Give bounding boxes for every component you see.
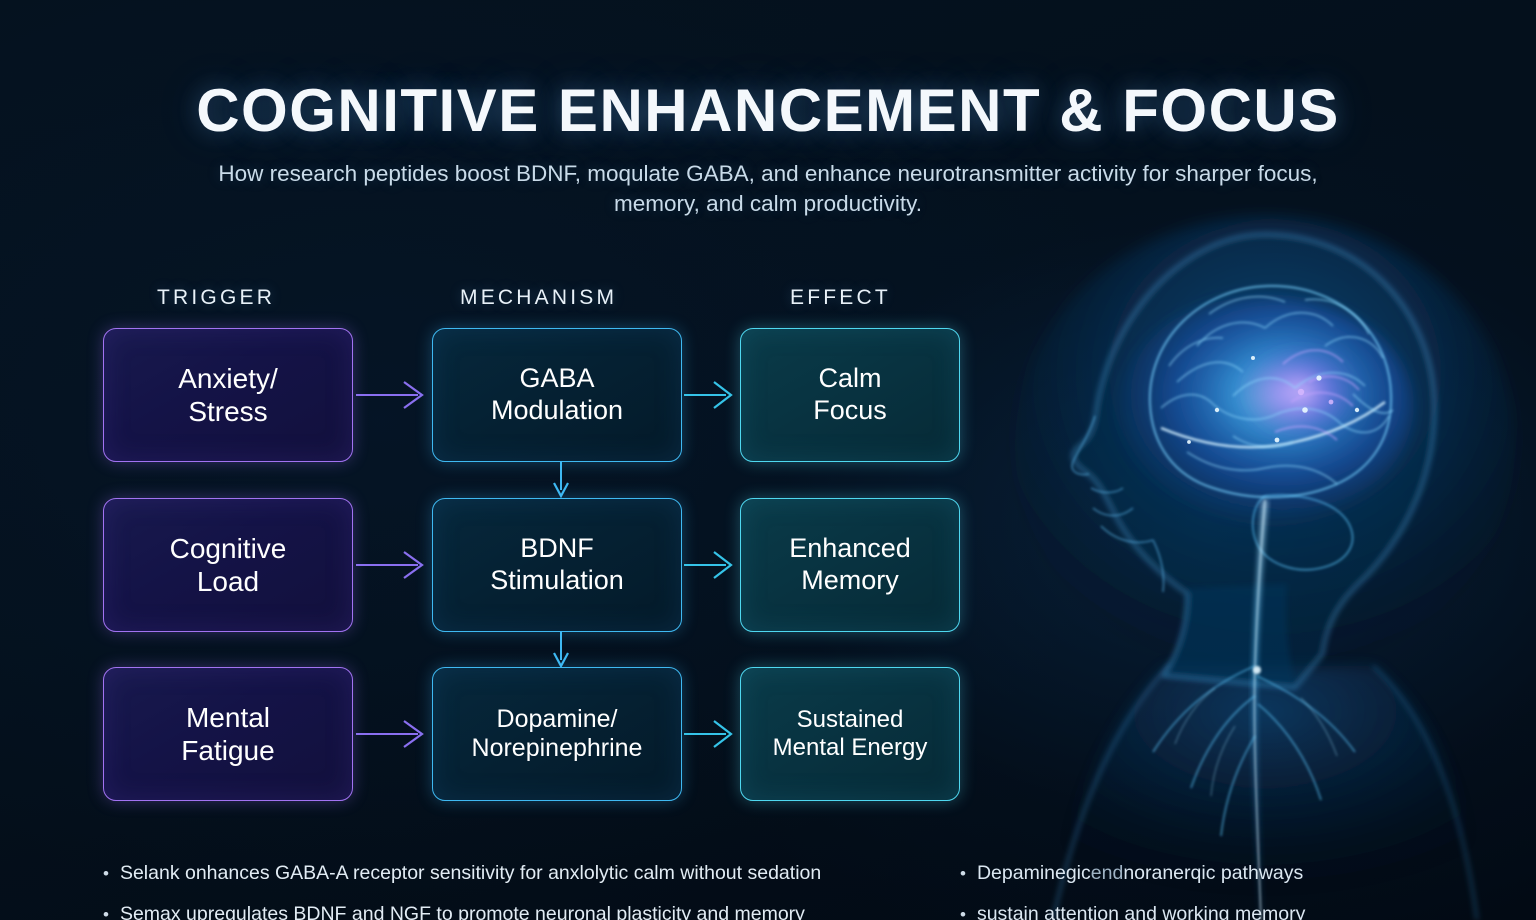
column-heading-trigger: TRIGGER [157,286,275,310]
arrow-trigger-to-mechanism-1 [356,380,432,410]
bullet-icon: • [960,906,966,920]
node-line-1: Dopamine/ [497,705,618,735]
trigger-node-anxiety-stress[interactable]: Anxiety/ Stress [103,328,353,462]
node-line-1: Sustained [797,706,904,734]
arrow-mechanism-gaba-to-bdnf [551,462,571,500]
page-subtitle: How research peptides boost BDNF, moqula… [173,159,1363,220]
node-line-2: Stress [188,395,267,428]
arrow-mechanism-to-effect-2 [684,550,740,580]
node-line-2: Fatigue [181,734,274,767]
node-line-2: Norepinephrine [472,734,643,764]
node-line-2: Focus [813,395,887,427]
node-line-1: Mental [186,701,270,734]
effect-node-calm-focus[interactable]: Calm Focus [740,328,960,462]
column-heading-effect: EFFECT [790,286,891,310]
notes-left-column: • Selank onhances GABA-A receptor sensit… [103,864,933,920]
note-item: • sustain attention and working memory [960,905,1520,920]
node-line-1: Cognitive [170,532,287,565]
note-text-before: Depaminegic [977,864,1091,884]
flow-rows: Anxiety/ Stress GABA Modulation [103,328,965,801]
node-line-2: Stimulation [490,565,624,597]
mechanism-node-bdnf-stimulation[interactable]: BDNF Stimulation [432,498,682,632]
page-title: COGNITIVE ENHANCEMENT & FOCUS [0,76,1536,145]
bullet-icon: • [960,865,966,882]
bullet-icon: • [103,865,109,882]
note-item: • Semax upregulates BDNF and NGF to prom… [103,905,933,920]
note-text-fragment: end [1091,864,1124,884]
trigger-node-mental-fatigue[interactable]: Mental Fatigue [103,667,353,801]
arrow-trigger-to-mechanism-2 [356,550,432,580]
header: COGNITIVE ENHANCEMENT & FOCUS How resear… [0,0,1536,220]
arrow-mechanism-to-effect-1 [684,380,740,410]
note-text-after: noranerqic pathways [1123,864,1303,884]
column-heading-mechanism: MECHANISM [460,286,617,310]
node-line-1: GABA [519,363,594,395]
node-line-2: Load [197,565,259,598]
bullet-icon: • [103,906,109,920]
note-text: Semax upregulates BDNF and NGF to promot… [120,905,805,920]
arrow-trigger-to-mechanism-3 [356,719,432,749]
note-item: • Selank onhances GABA-A receptor sensit… [103,864,933,884]
notes-right-column: • Depaminegic end noranerqic pathways • … [960,864,1520,920]
node-line-1: Anxiety/ [178,362,278,395]
node-line-1: Enhanced [789,533,911,565]
note-text-before: sustain attention and working memory [977,905,1305,920]
trigger-node-cognitive-load[interactable]: Cognitive Load [103,498,353,632]
flow-diagram: TRIGGER MECHANISM EFFECT Anxiety/ Stress… [103,286,965,801]
note-text: Selank onhances GABA-A receptor sensitiv… [120,864,821,884]
node-line-2: Memory [801,565,899,597]
node-line-1: BDNF [520,533,594,565]
node-line-2: Mental Energy [773,734,928,762]
arrow-mechanism-bdnf-to-dopamine [551,632,571,670]
mechanism-node-dopamine-norepinephrine[interactable]: Dopamine/ Norepinephrine [432,667,682,801]
arrow-mechanism-to-effect-3 [684,719,740,749]
note-item: • Depaminegic end noranerqic pathways [960,864,1520,884]
effect-node-enhanced-memory[interactable]: Enhanced Memory [740,498,960,632]
column-headings: TRIGGER MECHANISM EFFECT [103,286,965,328]
node-line-2: Modulation [491,395,623,427]
mechanism-node-gaba-modulation[interactable]: GABA Modulation [432,328,682,462]
effect-node-sustained-mental-energy[interactable]: Sustained Mental Energy [740,667,960,801]
glowing-human-head-brain-xray [965,196,1536,920]
node-line-1: Calm [818,363,881,395]
infographic-canvas: COGNITIVE ENHANCEMENT & FOCUS How resear… [0,0,1536,920]
